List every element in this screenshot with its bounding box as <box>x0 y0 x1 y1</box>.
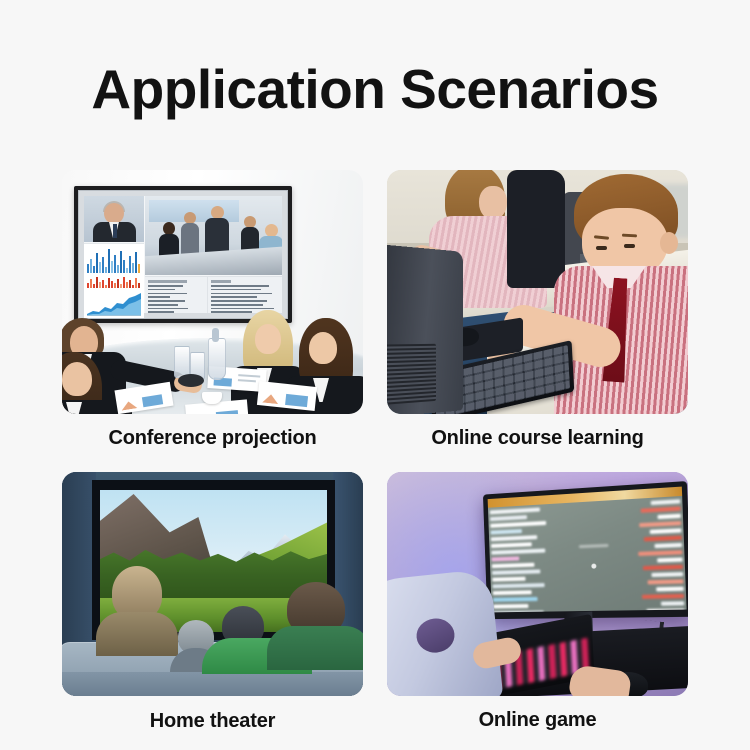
presentation-screen <box>74 186 292 323</box>
viewer-adult-right <box>275 582 363 666</box>
scenario-row-top: Conference projection <box>62 170 688 450</box>
screen-charts <box>84 243 144 318</box>
screen-bezel <box>78 190 288 319</box>
scenario-caption-conference-projection: Conference projection <box>62 427 363 450</box>
hoodie-patch <box>415 617 456 655</box>
woman-face <box>479 186 507 220</box>
online-course-learning-image <box>387 170 688 414</box>
video-call-room-view <box>145 196 282 275</box>
scenario-caption-home-theater: Home theater <box>62 710 363 733</box>
game-screen <box>488 487 687 613</box>
game-crosshair-dot <box>591 563 596 568</box>
boy-ear <box>660 232 678 254</box>
gaming-monitor <box>483 481 688 619</box>
sofa-base <box>62 672 363 696</box>
computer-monitor <box>387 244 463 414</box>
blue-area-chart <box>87 290 141 316</box>
scenario-card-home-theater: Home theater <box>62 472 363 733</box>
application-scenarios-page: Application Scenarios <box>0 0 750 750</box>
scenario-caption-online-game: Online game <box>387 709 688 732</box>
gamer-hoodie <box>387 569 503 696</box>
boy-eye <box>596 246 607 250</box>
carafe-neck <box>212 328 219 342</box>
scenario-caption-online-course-learning: Online course learning <box>387 427 688 450</box>
screen-text-panel <box>145 276 282 313</box>
conference-projection-image <box>62 170 363 414</box>
viewer-adult-left <box>96 566 178 652</box>
boy-eye <box>624 244 635 248</box>
scenario-card-online-course-learning: Online course learning <box>387 170 688 450</box>
screen-text-list-right <box>208 277 282 313</box>
scenario-grid: Conference projection <box>62 170 688 733</box>
scenario-card-conference-projection: Conference projection <box>62 170 363 450</box>
water-carafe <box>208 338 226 380</box>
screen-text-list-left <box>145 277 208 313</box>
scenario-row-bottom: Home theater <box>62 472 688 733</box>
page-title: Application Scenarios <box>0 58 750 120</box>
red-column-chart <box>87 276 140 288</box>
home-theater-image <box>62 472 363 696</box>
game-center-text <box>579 544 609 548</box>
table-object <box>178 374 204 387</box>
blue-column-chart <box>87 247 140 273</box>
game-chat-right <box>634 499 684 612</box>
online-game-image <box>387 472 688 696</box>
game-chat-left <box>490 507 554 612</box>
screen-content <box>84 196 282 313</box>
coffee-cup <box>202 392 222 404</box>
scenario-card-online-game: Online game <box>387 472 688 733</box>
video-call-portrait <box>84 196 144 242</box>
